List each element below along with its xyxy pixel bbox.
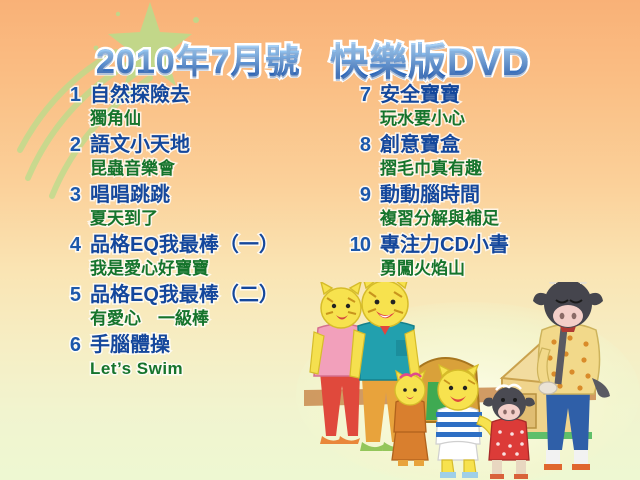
headings: 2010年7月號 2010年7月號 快樂版DVD 快樂版DVD (0, 34, 640, 82)
item-number: 10 (336, 234, 370, 257)
item-subtitle: 有愛心 一級棒 (90, 308, 279, 330)
contents-left-column: 1 自然探險去 獨角仙 2 語文小天地 昆蟲音樂會 3 唱唱跳跳 夏天到了 4 … (46, 84, 336, 384)
item-title: 唱唱跳跳 (90, 184, 170, 207)
item-subtitle: Let’s Swim (90, 358, 183, 380)
illustration-characters (296, 282, 640, 480)
item-subtitle: 勇闖火焰山 (380, 258, 509, 280)
item-subtitle: 我是愛心好寶寶 (90, 258, 279, 280)
list-item[interactable]: 6 手腦體操 Let’s Swim (46, 334, 336, 384)
item-title: 品格EQ我最棒（二） (90, 284, 279, 307)
item-number: 3 (46, 184, 80, 207)
item-subtitle: 複習分解與補足 (380, 208, 499, 230)
item-number: 7 (336, 84, 370, 107)
list-item[interactable]: 2 語文小天地 昆蟲音樂會 (46, 134, 336, 184)
list-item[interactable]: 3 唱唱跳跳 夏天到了 (46, 184, 336, 234)
item-number: 8 (336, 134, 370, 157)
item-title: 品格EQ我最棒（一） (90, 234, 279, 257)
item-number: 1 (46, 84, 80, 107)
list-item[interactable]: 4 品格EQ我最棒（一） 我是愛心好寶寶 (46, 234, 336, 284)
item-number: 2 (46, 134, 80, 157)
item-title: 動動腦時間 (380, 184, 499, 207)
list-item[interactable]: 8 創意寶盒 摺毛巾真有趣 (336, 134, 636, 184)
list-item[interactable]: 7 安全寶寶 玩水要小心 (336, 84, 636, 134)
item-title: 自然探險去 (90, 84, 190, 107)
dvd-menu-screen: 2010年7月號 2010年7月號 快樂版DVD 快樂版DVD 1 自然探險去 … (0, 0, 640, 480)
character-tiger-toddler (392, 371, 428, 466)
item-title: 安全寶寶 (380, 84, 465, 107)
page-title-date: 2010年7月號 2010年7月號 (96, 34, 301, 83)
item-subtitle: 昆蟲音樂會 (90, 158, 190, 180)
page-title-edition: 快樂版DVD 快樂版DVD (330, 31, 530, 86)
item-number: 5 (46, 284, 80, 307)
item-number: 9 (336, 184, 370, 207)
item-subtitle: 摺毛巾真有趣 (380, 158, 482, 180)
item-title: 手腦體操 (90, 334, 183, 357)
item-title: 語文小天地 (90, 134, 190, 157)
list-item[interactable]: 10 專注力CD小書 勇闖火焰山 (336, 234, 636, 284)
item-subtitle: 夏天到了 (90, 208, 170, 230)
item-title: 專注力CD小書 (380, 234, 509, 257)
item-number: 6 (46, 334, 80, 357)
item-subtitle: 獨角仙 (90, 108, 190, 130)
page-title-edition-fill: 快樂版DVD (330, 31, 530, 86)
list-item[interactable]: 5 品格EQ我最棒（二） 有愛心 一級棒 (46, 284, 336, 334)
page-title-date-fill: 2010年7月號 (96, 34, 301, 83)
item-subtitle: 玩水要小心 (380, 108, 465, 130)
item-number: 4 (46, 234, 80, 257)
list-item[interactable]: 1 自然探險去 獨角仙 (46, 84, 336, 134)
list-item[interactable]: 9 動動腦時間 複習分解與補足 (336, 184, 636, 234)
item-title: 創意寶盒 (380, 134, 482, 157)
contents-right-column: 7 安全寶寶 玩水要小心 8 創意寶盒 摺毛巾真有趣 9 動動腦時間 複習分解與… (336, 84, 636, 284)
